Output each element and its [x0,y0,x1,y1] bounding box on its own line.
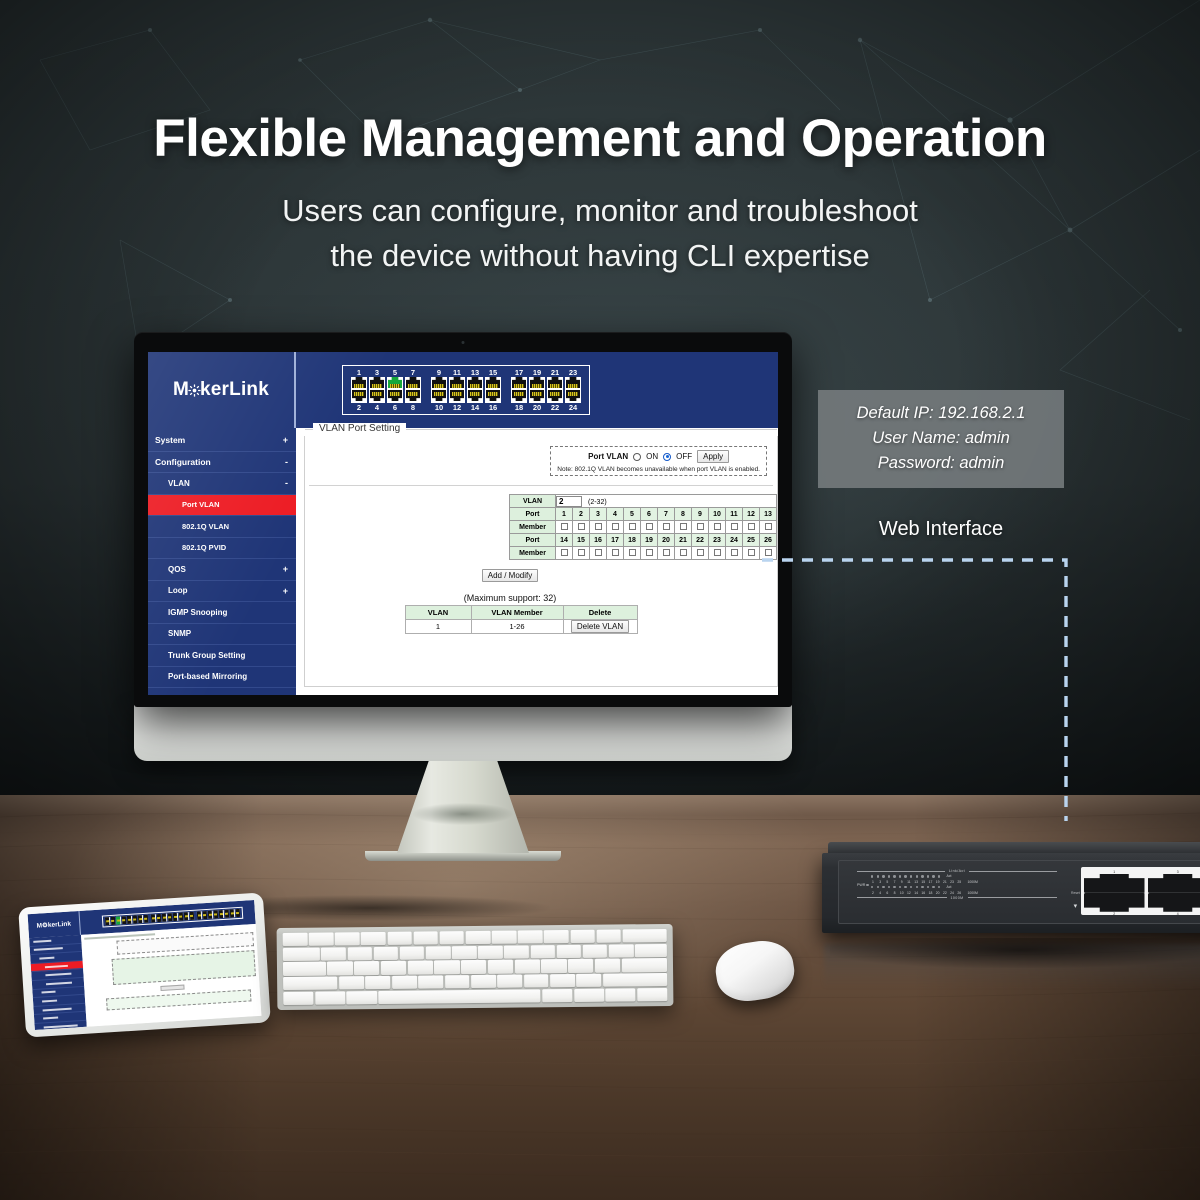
led-number-row: 1357911131517192123251000M [857,880,1057,884]
switch-led-panel: Link/ActAct1357911131517192123251000MAct… [857,869,1057,900]
keyboard-key[interactable] [492,931,517,944]
port-label-bottom: 10 [435,403,443,412]
keyboard-key[interactable] [497,975,522,988]
led-port-number: 22 [943,891,947,895]
member-cell-11 [726,521,743,534]
sidebar-item-qos[interactable]: QOS+ [148,559,296,581]
rj45-port-24[interactable] [565,390,581,403]
member-cell-10 [709,521,726,534]
tablet-device: M⚙kerLink [18,892,271,1037]
keyboard-key[interactable] [542,989,572,1002]
keyboard-key[interactable] [478,945,503,958]
mouse-body [712,936,798,1005]
member-checkbox-9[interactable] [697,523,704,530]
member-checkbox-2[interactable] [578,523,585,530]
port-label-bottom: 12 [453,403,461,412]
led-indicator [916,886,918,888]
sidebar-item-label: Configuration [155,457,211,467]
port-label-top: 3 [375,368,379,377]
led-port-number: 23 [950,880,954,884]
keyboard-key[interactable] [568,959,593,972]
rj45-port-2[interactable] [351,390,367,403]
keyboard-key[interactable] [315,991,345,1004]
radio-on[interactable] [633,453,641,461]
led-row-tag: Act [947,874,952,878]
max-support-note: (Maximum support: 32) [305,582,715,603]
member-checkbox-19[interactable] [646,549,653,556]
vlan-member-table: VLAN(2-32)Port12345678910111213MemberPor… [509,494,777,560]
rj45-port-10[interactable] [431,390,447,403]
member-checkbox-7[interactable] [663,523,670,530]
expand-icon[interactable]: + [283,586,288,596]
led-port-number: 15 [921,880,925,884]
keyboard-key[interactable] [283,962,326,976]
keyboard-key[interactable] [596,929,621,942]
member-checkbox-13[interactable] [765,523,772,530]
member-cell-17 [607,547,624,560]
rj45-port-1[interactable] [351,377,367,390]
port-map-area: 123456789101112131415161718192021222324 [296,352,778,428]
keyboard-key[interactable] [541,959,566,972]
monitor-screen: MkerLink 1234567891011121314151617181920… [148,352,778,695]
member-checkbox-18[interactable] [629,549,636,556]
monitor-chin [134,705,792,761]
port-pair[interactable]: 1920 [529,368,545,412]
port-pair[interactable]: 78 [405,368,421,412]
keyboard-key[interactable] [378,989,540,1004]
led-indicator [899,886,901,888]
port-pair[interactable]: 34 [369,368,385,412]
member-checkbox-10[interactable] [714,523,721,530]
keyboard-key[interactable] [418,975,443,988]
sidebar-item-802-1q-pvid[interactable]: 802.1Q PVID [148,538,296,560]
switch-front-panel: Link/ActAct1357911131517192123251000MAct… [822,853,1200,933]
sidebar-nav: System+Configuration-VLAN-Port VLAN802.1… [148,428,296,695]
keyboard-key[interactable] [609,944,634,957]
sidebar-item-igmp-snooping[interactable]: IGMP Snooping [148,602,296,624]
keyboard-key[interactable] [635,944,667,957]
port-label-top: 21 [551,368,559,377]
keyboard[interactable] [277,924,674,1010]
port-label-bottom: 16 [489,403,497,412]
port-pair[interactable]: 1718 [511,368,527,412]
keyboard-key[interactable] [283,947,320,961]
port-label-bottom: 20 [533,403,541,412]
rj45-port-20[interactable] [529,390,545,403]
keyboard-key[interactable] [354,961,379,974]
port-label-top: 17 [515,368,523,377]
vlan-list-table: VLANVLAN MemberDelete11-26Delete VLAN [405,605,638,634]
collapse-icon[interactable]: - [285,478,288,488]
panel-title: VLAN Port Setting [313,423,406,434]
switch-rj45-labels: 24 [1084,912,1200,916]
keyboard-key[interactable] [622,958,667,972]
led-indicator [877,875,879,877]
port-row-header: Port [510,534,556,547]
rj45-port-18[interactable] [511,390,527,403]
rj45-port-8[interactable] [405,390,421,403]
sidebar-item-label: 802.1Q VLAN [182,522,229,531]
switch-rj45-port[interactable] [1084,874,1145,893]
keyboard-key[interactable] [466,931,491,944]
port-number-22: 22 [692,534,709,547]
keyboard-key[interactable] [392,976,417,989]
keyboard-key[interactable] [461,960,486,973]
port-label-bottom: 2 [357,403,361,412]
rj45-port-17[interactable] [511,377,527,390]
member-checkbox-25[interactable] [748,549,755,556]
tablet-rj45-port [167,913,172,921]
port-pair[interactable]: 1112 [449,368,465,412]
led-indicator [932,875,934,877]
collapse-icon[interactable]: - [285,457,288,467]
add-modify-button[interactable]: Add / Modify [482,569,538,582]
keyboard-key[interactable] [595,959,620,972]
member-checkbox-22[interactable] [697,549,704,556]
led-indicator [921,875,923,877]
port-vlan-controls: Port VLAN ON OFF Apply [557,450,760,463]
connector-line [760,555,1090,825]
tablet-rj45-port [162,914,167,922]
expand-icon[interactable]: + [283,435,288,445]
rj45-port-23[interactable] [565,377,581,390]
keyboard-key[interactable] [622,929,666,943]
vlan-editor-row: VLAN(2-32)Port12345678910111213MemberPor… [305,486,777,560]
reset-button[interactable]: Reset ▾ [1071,891,1080,913]
led-dot-row: Act [857,874,1057,878]
tablet-rj45-port [132,915,137,923]
member-row-2: Member [510,547,777,560]
port-number-19: 19 [641,534,658,547]
port-number-4: 4 [607,508,624,521]
switch-rj45-port[interactable] [1084,893,1145,912]
switch-faceplate: Link/ActAct1357911131517192123251000MAct… [838,860,1200,924]
keyboard-key[interactable] [570,930,595,943]
led-indicator [899,875,901,877]
rj45-port-9[interactable] [431,377,447,390]
sidebar-item-loop[interactable]: Loop+ [148,581,296,603]
keyboard-key[interactable] [335,932,360,945]
keyboard-key[interactable] [283,977,338,991]
rj45-port-12[interactable] [449,390,465,403]
led-indicator [888,886,890,888]
keyboard-key[interactable] [637,988,667,1001]
tablet-vlan-grid [112,950,256,985]
port-label-top: 13 [471,368,479,377]
switch-rj45-port[interactable] [1148,874,1200,893]
rj45-port-16[interactable] [485,390,501,403]
monitor-stand-neck [397,761,529,853]
mouse[interactable] [712,936,798,1005]
port-pair[interactable]: 12 [351,368,367,412]
app-header: MkerLink 1234567891011121314151617181920… [148,352,778,428]
port-label-top: 19 [533,368,541,377]
led-port-number: 2 [871,891,875,895]
port-row-header: Port [510,508,556,521]
vlan-id-cell: 1 [405,620,471,634]
led-port-number: 6 [885,891,889,895]
member-checkbox-14[interactable] [561,549,568,556]
keyboard-key[interactable] [439,931,464,944]
led-indicator [904,886,906,888]
member-cell-18 [624,547,641,560]
keyboard-key[interactable] [583,944,608,957]
rj45-port-4[interactable] [369,390,385,403]
radio-off[interactable] [663,453,671,461]
sidebar-item-port-vlan[interactable]: Port VLAN [148,495,296,517]
member-checkbox-20[interactable] [663,549,670,556]
switch-rj45-label: 1 [1084,870,1145,874]
keyboard-row [283,988,667,1005]
led-indicator [938,875,940,877]
led-port-number: 19 [936,880,940,884]
switch-rj45-row [1084,874,1200,893]
switch-rj45-port[interactable] [1148,893,1200,912]
led-indicator [910,875,912,877]
tablet-rj45-port [105,917,110,925]
keyboard-key[interactable] [413,931,438,944]
rj45-port-5[interactable] [387,377,403,390]
member-checkbox-3[interactable] [595,523,602,530]
keyboard-key[interactable] [283,992,313,1005]
member-checkbox-6[interactable] [646,523,653,530]
switch-rj45-block: 1324 [1081,867,1200,915]
keyboard-key[interactable] [603,973,668,987]
rj45-port-3[interactable] [369,377,385,390]
led-row-tag: 1000M [967,880,977,884]
led-port-number: 3 [878,880,882,884]
vlan-list-header-vlan-member: VLAN Member [471,606,563,620]
rj45-port-13[interactable] [467,377,483,390]
port-group: 12345678 [351,368,421,412]
member-checkbox-8[interactable] [680,523,687,530]
rj45-port-14[interactable] [467,390,483,403]
vlan-list-header-vlan: VLAN [405,606,471,620]
sidebar-item-port-based-mirroring[interactable]: Port-based Mirroring [148,667,296,689]
sidebar-item-label: VLAN [168,479,190,488]
port-number-25: 25 [743,534,760,547]
led-indicator [882,886,884,888]
switch-rj45-label: 3 [1148,870,1200,874]
port-group: 1718192021222324 [511,368,581,412]
keyboard-key[interactable] [339,976,364,989]
port-number-3: 3 [590,508,607,521]
port-number-5: 5 [624,508,641,521]
port-number-8: 8 [675,508,692,521]
keyboard-key[interactable] [518,930,543,943]
keyboard-key[interactable] [504,945,529,958]
keyboard-key[interactable] [426,946,451,959]
member-checkbox-1[interactable] [561,523,568,530]
user-name-text: User Name: admin [828,426,1054,451]
member-cell-2 [573,521,590,534]
member-checkbox-12[interactable] [748,523,755,530]
keyboard-key[interactable] [387,932,412,945]
port-number-row: Port14151617181920212223242526 [510,534,777,547]
keyboard-key[interactable] [605,988,635,1001]
app-body: System+Configuration-VLAN-Port VLAN802.1… [148,428,778,695]
tablet-app-body [29,924,261,1030]
keyboard-key[interactable] [347,991,377,1004]
port-label-bottom: 8 [411,403,415,412]
port-pair[interactable]: 2324 [565,368,581,412]
port-pair[interactable]: 2122 [547,368,563,412]
member-row-header: Member [510,521,556,534]
led-group-rail: Link/Act [857,869,1057,873]
sidebar-item-system[interactable]: System+ [148,430,296,452]
member-checkbox-24[interactable] [731,549,738,556]
switch-rj45-row [1084,893,1200,912]
keyboard-key[interactable] [488,960,513,973]
keyboard-key[interactable] [366,976,391,989]
tablet-screen: M⚙kerLink [28,900,262,1030]
keyboard-key[interactable] [556,945,581,958]
member-row-1: Member [510,521,777,534]
port-number-21: 21 [675,534,692,547]
sidebar-item-label: Port-based Mirroring [168,672,247,681]
rj45-port-22[interactable] [547,390,563,403]
member-checkbox-11[interactable] [731,523,738,530]
rj45-port-21[interactable] [547,377,563,390]
keyboard-key[interactable] [321,947,346,960]
keyboard-key[interactable] [576,974,601,987]
subtitle-line-1: Users can configure, monitor and trouble… [0,189,1200,234]
keyboard-key[interactable] [550,974,575,987]
member-checkbox-21[interactable] [680,549,687,556]
keyboard-key[interactable] [515,960,540,973]
member-cell-19 [641,547,658,560]
port-vlan-toggle-box: Port VLAN ON OFF Apply Note: 802.1Q VLAN… [550,446,767,476]
member-cell-7 [658,521,675,534]
sidebar-item-configuration[interactable]: Configuration- [148,452,296,474]
port-number-13: 13 [760,508,777,521]
rj45-port-11[interactable] [449,377,465,390]
keyboard-key[interactable] [400,946,425,959]
chevron-down-icon: ▾ [1074,903,1078,910]
brand-logo[interactable]: MkerLink [148,352,296,428]
keyboard-key[interactable] [283,933,308,946]
member-checkbox-23[interactable] [714,549,721,556]
vlan-member-cell: 1-26 [471,620,563,634]
led-port-number: 18 [929,891,933,895]
sidebar-item-snmp[interactable]: SNMP [148,624,296,646]
member-checkbox-15[interactable] [578,549,585,556]
tablet-rj45-port [219,910,224,918]
rj45-port-6[interactable] [387,390,403,403]
keyboard-key[interactable] [381,961,406,974]
sidebar-item-trunk-group-setting[interactable]: Trunk Group Setting [148,645,296,667]
vlan-list-header-delete: Delete [563,606,637,620]
keyboard-key[interactable] [434,961,459,974]
tablet-list-table [106,989,251,1010]
rj45-port-19[interactable] [529,377,545,390]
port-pair[interactable]: 1516 [485,368,501,412]
led-indicator [927,886,929,888]
sidebar-item-802-1q-vlan[interactable]: 802.1Q VLAN [148,516,296,538]
led-row-tag: Act [947,885,952,889]
tablet-rj45-port [127,916,132,924]
vlan-id-input[interactable] [556,496,582,507]
member-checkbox-16[interactable] [595,549,602,556]
logo-text: MkerLink [173,379,269,401]
keyboard-key[interactable] [544,930,569,943]
sidebar-item-label: IGMP Snooping [168,608,227,617]
port-label-bottom: 22 [551,403,559,412]
port-label-top: 7 [411,368,415,377]
subtitle-line-2: the device without having CLI expertise [0,234,1200,279]
port-pair[interactable]: 1314 [467,368,483,412]
tablet-rj45-port [110,917,115,925]
member-cell-20 [658,547,675,560]
keyboard-key[interactable] [445,975,470,988]
rj45-port-7[interactable] [405,377,421,390]
led-port-number: 26 [957,891,961,895]
radio-on-label: ON [646,452,658,461]
sidebar-item-vlan[interactable]: VLAN- [148,473,296,495]
keyboard-key[interactable] [574,989,604,1002]
tablet-logo: M⚙kerLink [28,911,81,938]
keyboard-key[interactable] [327,962,352,975]
tablet-sidebar [29,935,87,1030]
member-checkbox-4[interactable] [612,523,619,530]
keyboard-key[interactable] [524,974,549,987]
member-cell-15 [573,547,590,560]
keyboard-key[interactable] [530,945,555,958]
member-checkbox-5[interactable] [629,523,636,530]
keyboard-key[interactable] [309,932,334,945]
port-number-11: 11 [726,508,743,521]
led-indicator [927,875,929,877]
keyboard-key[interactable] [471,975,496,988]
led-port-number: 16 [921,891,925,895]
led-row-tag: 1000M [967,891,977,895]
vlan-list-header-row: VLANVLAN MemberDelete [405,606,637,620]
tablet-port-group [151,912,194,923]
keyboard-key[interactable] [347,947,372,960]
webcam-icon [462,341,465,344]
port-label-bottom: 6 [393,403,397,412]
led-port-number: 4 [878,891,882,895]
network-switch-hardware: Link/ActAct1357911131517192123251000MAct… [822,842,1200,946]
led-dot-row: Act [857,885,1057,889]
rj45-port-15[interactable] [485,377,501,390]
led-number-row: 24681012141618202224261000M [857,891,1057,895]
port-number-1: 1 [556,508,573,521]
keyboard-key[interactable] [408,961,433,974]
tablet-rj45-port [116,916,121,924]
tablet-rj45-port [184,912,189,920]
apply-button[interactable]: Apply [697,450,729,463]
member-cell-6 [641,521,658,534]
logo-prefix: M [173,379,189,400]
keyboard-key[interactable] [361,932,386,945]
member-cell-4 [607,521,624,534]
keyboard-key[interactable] [373,947,398,960]
member-cell-21 [675,547,692,560]
member-checkbox-17[interactable] [612,549,619,556]
expand-icon[interactable]: + [283,564,288,574]
default-ip-text: Default IP: 192.168.2.1 [828,401,1054,426]
sidebar-item-label: Port VLAN [182,500,220,509]
port-number-16: 16 [590,534,607,547]
port-pair[interactable]: 56 [387,368,403,412]
vlan-id-header: VLAN [510,495,556,508]
delete-vlan-button[interactable]: Delete VLAN [571,620,629,633]
port-pair[interactable]: 910 [431,368,447,412]
port-vlan-toggle-row: Port VLAN ON OFF Apply Note: 802.1Q VLAN… [305,438,777,476]
keyboard-key[interactable] [452,946,477,959]
member-cell-13 [760,521,777,534]
